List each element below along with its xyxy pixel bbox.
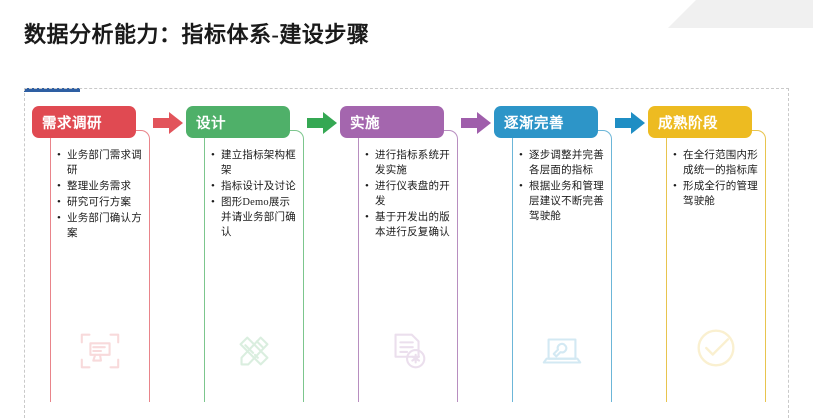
step-bullet-item: 建立指标架构框架 bbox=[220, 149, 299, 179]
step-title-label: 需求调研 bbox=[42, 112, 102, 133]
title-block: 数据分析能力：指标体系-建设步骤 bbox=[24, 22, 784, 48]
step-body-2: 建立指标架构框架指标设计及讨论图形Demo展示并请业务部门确认 bbox=[204, 130, 304, 402]
step-header-1[interactable]: 需求调研 bbox=[32, 106, 136, 138]
step-bullet-list: 进行指标系统开发实施进行仪表盘的开发基于开发出的版本进行反复确认 bbox=[359, 131, 457, 240]
step-title-label: 实施 bbox=[350, 112, 380, 133]
step-title-label: 设计 bbox=[196, 112, 226, 133]
step-bullet-list: 在全行范围内形成统一的指标库形成全行的管理驾驶舱 bbox=[667, 131, 765, 210]
step-card-4[interactable]: 逐步调整并完善各层面的指标根据业务和管理层建议不断完善驾驶舱逐渐完善 bbox=[494, 106, 612, 400]
document-gear-icon bbox=[359, 328, 457, 374]
survey-scan-icon bbox=[51, 328, 149, 374]
step-header-4[interactable]: 逐渐完善 bbox=[494, 106, 598, 138]
step-bullet-item: 逐步调整并完善各层面的指标 bbox=[528, 149, 607, 179]
step-bullet-list: 逐步调整并完善各层面的指标根据业务和管理层建议不断完善驾驶舱 bbox=[513, 131, 611, 225]
step-bullet-item: 整理业务需求 bbox=[66, 180, 145, 195]
step-card-5[interactable]: 在全行范围内形成统一的指标库形成全行的管理驾驶舱成熟阶段 bbox=[648, 106, 766, 400]
step-bullet-item: 进行指标系统开发实施 bbox=[374, 149, 453, 179]
step-title-label: 逐渐完善 bbox=[504, 112, 564, 133]
step-header-3[interactable]: 实施 bbox=[340, 106, 444, 138]
step-bullet-item: 在全行范围内形成统一的指标库 bbox=[682, 149, 761, 179]
flow-arrow-icon-1 bbox=[150, 107, 186, 139]
flow-arrow-icon-2 bbox=[304, 107, 340, 139]
step-body-4: 逐步调整并完善各层面的指标根据业务和管理层建议不断完善驾驶舱 bbox=[512, 130, 612, 402]
step-card-1[interactable]: 业务部门需求调研整理业务需求研究可行方案业务部门确认方案需求调研 bbox=[32, 106, 150, 400]
step-body-3: 进行指标系统开发实施进行仪表盘的开发基于开发出的版本进行反复确认 bbox=[358, 130, 458, 402]
step-bullet-item: 基于开发出的版本进行反复确认 bbox=[374, 211, 453, 241]
laptop-wrench-icon bbox=[513, 328, 611, 374]
step-bullet-list: 建立指标架构框架指标设计及讨论图形Demo展示并请业务部门确认 bbox=[205, 131, 303, 240]
step-body-1: 业务部门需求调研整理业务需求研究可行方案业务部门确认方案 bbox=[50, 130, 150, 402]
build-steps-row: 业务部门需求调研整理业务需求研究可行方案业务部门确认方案需求调研建立指标架构框架… bbox=[32, 106, 792, 406]
step-bullet-item: 形成全行的管理驾驶舱 bbox=[682, 180, 761, 210]
step-bullet-item: 进行仪表盘的开发 bbox=[374, 180, 453, 210]
flow-arrow-icon-3 bbox=[458, 107, 494, 139]
step-bullet-item: 根据业务和管理层建议不断完善驾驶舱 bbox=[528, 180, 607, 225]
step-card-2[interactable]: 建立指标架构框架指标设计及讨论图形Demo展示并请业务部门确认设计 bbox=[186, 106, 304, 400]
flow-arrow-icon-4 bbox=[612, 107, 648, 139]
step-title-label: 成熟阶段 bbox=[658, 112, 718, 133]
check-circle-icon bbox=[667, 322, 765, 374]
step-bullet-item: 业务部门需求调研 bbox=[66, 149, 145, 179]
page-title: 数据分析能力：指标体系-建设步骤 bbox=[24, 22, 784, 48]
pencil-ruler-icon bbox=[205, 328, 303, 374]
step-body-5: 在全行范围内形成统一的指标库形成全行的管理驾驶舱 bbox=[666, 130, 766, 402]
step-card-3[interactable]: 进行指标系统开发实施进行仪表盘的开发基于开发出的版本进行反复确认实施 bbox=[340, 106, 458, 400]
step-header-2[interactable]: 设计 bbox=[186, 106, 290, 138]
step-bullet-item: 研究可行方案 bbox=[66, 196, 145, 211]
step-bullet-item: 业务部门确认方案 bbox=[66, 212, 145, 242]
step-header-5[interactable]: 成熟阶段 bbox=[648, 106, 752, 138]
step-bullet-item: 指标设计及讨论 bbox=[220, 180, 299, 195]
step-bullet-list: 业务部门需求调研整理业务需求研究可行方案业务部门确认方案 bbox=[51, 131, 149, 241]
step-bullet-item: 图形Demo展示并请业务部门确认 bbox=[220, 196, 299, 241]
